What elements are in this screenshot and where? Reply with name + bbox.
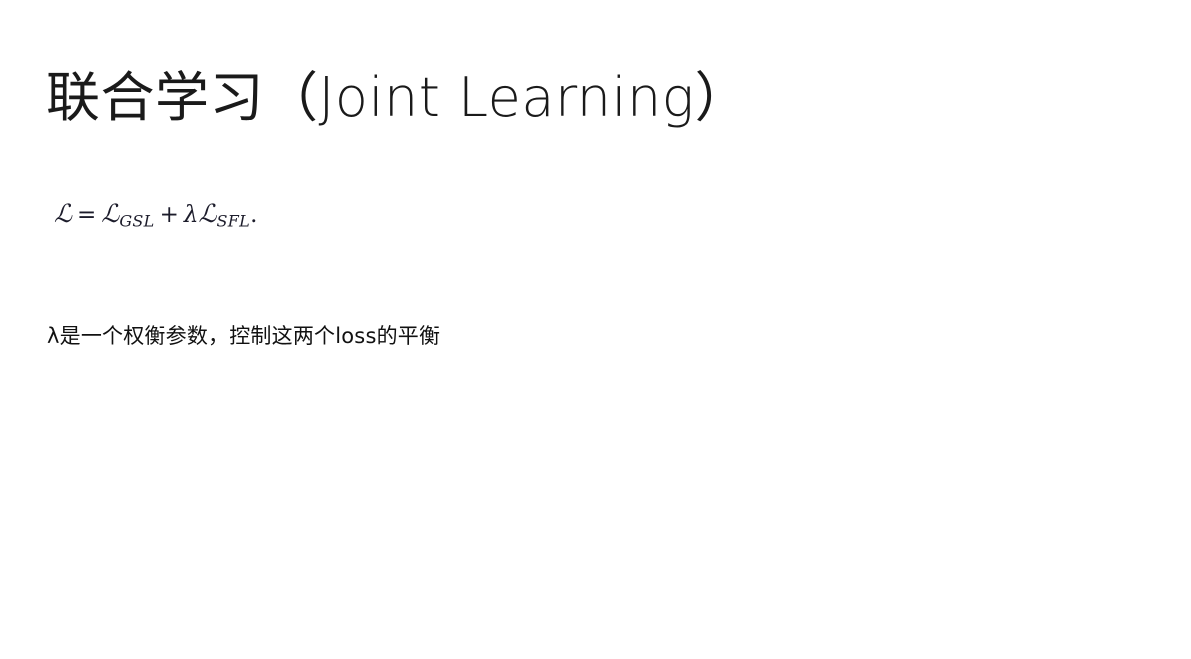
equation-plus-operator: +	[155, 202, 184, 228]
page-title: 联合学习（Joint Learning）	[46, 66, 749, 130]
equation-period: .	[250, 202, 257, 228]
equation-lambda-symbol: λ	[184, 202, 199, 228]
equation-term2-symbol: ℒ	[198, 199, 216, 228]
equation-equals-operator: =	[72, 202, 101, 228]
loss-equation: ℒ=ℒGSL+λℒSFL.	[54, 198, 257, 231]
equation-lhs-symbol: ℒ	[54, 199, 72, 228]
equation-term2-subscript: SFL	[216, 211, 250, 230]
equation-term1-symbol: ℒ	[101, 199, 119, 228]
equation-term1-subscript: GSL	[119, 211, 154, 230]
body-paragraph: λ是一个权衡参数，控制这两个loss的平衡	[47, 321, 440, 351]
slide-canvas: 联合学习（Joint Learning） ℒ=ℒGSL+λℒSFL. λ是一个权…	[0, 0, 1191, 659]
